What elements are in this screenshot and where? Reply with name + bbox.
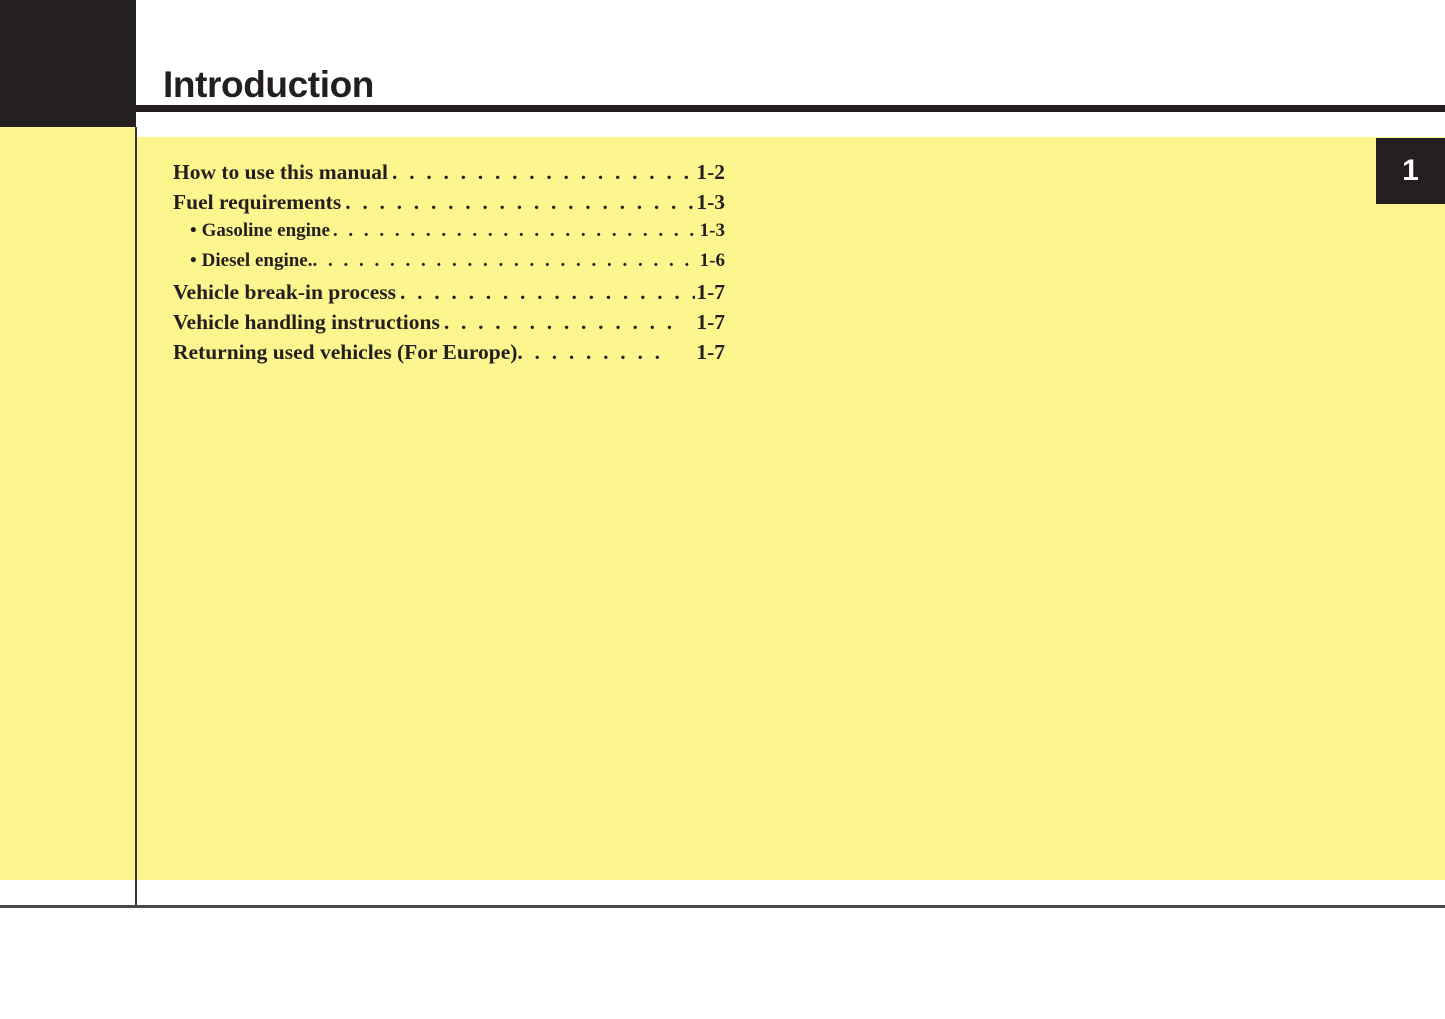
toc-entry-text: Returning used vehicles (For Europe) [173,340,517,364]
title-divider-rule [136,105,1445,112]
page-title: Introduction [163,66,374,103]
toc-page-number: 1-6 [700,250,725,272]
toc-entry-label: Vehicle handling instructions [173,310,440,335]
toc-dot-leader: . . . . . . . . . . . . . . . . . . . . … [312,250,698,272]
chapter-tab-number: 1 [1402,156,1419,186]
chapter-tab: 1 [1376,138,1445,204]
toc-dot-leader: . . . . . . . . . . . . . . . . . . [400,280,695,305]
toc-page-number: 1-2 [696,160,725,185]
toc-entry-label: Returning used vehicles (For Europe) [173,340,517,365]
toc-entry[interactable]: Returning used vehicles (For Europe). . … [173,340,725,370]
page-footer [0,908,1445,1019]
toc-entry[interactable]: Fuel requirements. . . . . . . . . . . .… [173,190,725,220]
toc-page-number: 1-7 [696,340,725,365]
toc-dot-leader: . . . . . . . . . . . . . . . . . . . . [392,160,695,185]
toc-entry[interactable]: How to use this manual. . . . . . . . . … [173,160,725,190]
toc-page-number: 1-3 [700,220,725,242]
toc-entry[interactable]: •Gasoline engine. . . . . . . . . . . . … [173,220,725,250]
bullet-icon: • [190,250,197,272]
toc-page-number: 1-7 [696,310,725,335]
page-header: Introduction [136,0,1445,105]
toc-entry-text: Gasoline engine [202,220,330,241]
toc-entry-label: •Diesel engine. [190,250,312,272]
toc-dot-leader: . . . . . . . . . . . . . . . . . . . . … [345,190,695,215]
toc-entry-text: Diesel engine. [202,250,313,271]
bullet-icon: • [190,220,197,242]
sidebar-color-strip [0,127,136,880]
toc-entry-label: Vehicle break-in process [173,280,396,305]
toc-page-number: 1-3 [696,190,725,215]
toc-dot-leader: . . . . . . . . . . . . . . . . . . . . … [333,220,699,242]
table-of-contents: How to use this manual. . . . . . . . . … [173,160,725,370]
toc-entry-label: •Gasoline engine [190,220,330,242]
manual-page: Introduction 1 How to use this manual. .… [0,0,1445,1019]
corner-block-decoration [0,0,136,127]
toc-entry-label: How to use this manual [173,160,388,185]
toc-entry[interactable]: Vehicle handling instructions. . . . . .… [173,310,725,340]
toc-entry[interactable]: Vehicle break-in process. . . . . . . . … [173,280,725,310]
toc-entry-label: Fuel requirements [173,190,341,215]
sidebar-content-divider [135,127,137,908]
toc-entry-text: Vehicle break-in process [173,280,396,304]
toc-entry-text: How to use this manual [173,160,388,184]
toc-dot-leader: . . . . . . . . . [517,340,695,365]
toc-entry-text: Vehicle handling instructions [173,310,440,334]
toc-page-number: 1-7 [696,280,725,305]
toc-entry[interactable]: •Diesel engine.. . . . . . . . . . . . .… [173,250,725,280]
toc-dot-leader: . . . . . . . . . . . . . . [444,310,696,335]
toc-entry-text: Fuel requirements [173,190,341,214]
